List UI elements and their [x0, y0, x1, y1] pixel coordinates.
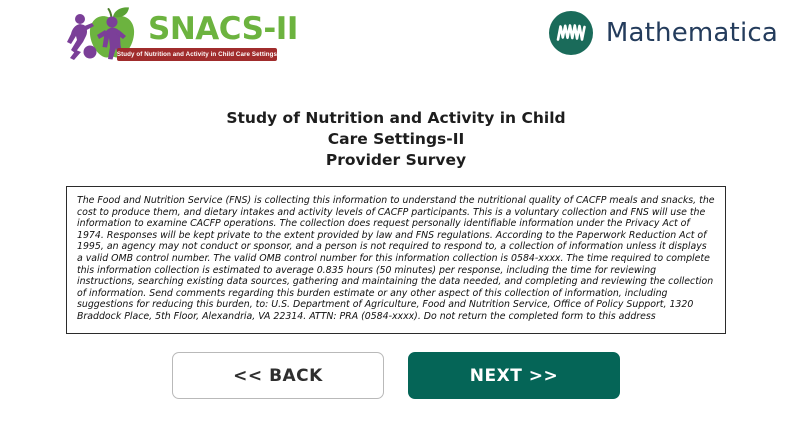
page-title: Study of Nutrition and Activity in Child…	[0, 108, 792, 171]
snacs-wordmark: SNACS-II	[148, 11, 298, 47]
next-button[interactable]: NEXT >>	[408, 352, 620, 399]
page-title-line-1: Study of Nutrition and Activity in Child	[0, 108, 792, 129]
snacs-subtitle-banner: Study of Nutrition and Activity in Child…	[117, 48, 277, 61]
mathematica-mark-icon	[549, 11, 593, 55]
page-header: SNACS-II Study of Nutrition and Activity…	[0, 0, 792, 78]
mathematica-logo: Mathematica	[549, 11, 778, 55]
navigation-buttons: << BACK NEXT >>	[0, 352, 792, 399]
burden-statement-box: The Food and Nutrition Service (FNS) is …	[66, 186, 726, 334]
burden-statement-text: The Food and Nutrition Service (FNS) is …	[77, 195, 715, 323]
snacs-logo: SNACS-II Study of Nutrition and Activity…	[64, 6, 279, 66]
page-title-line-2: Care Settings-II	[0, 129, 792, 150]
mathematica-wordmark: Mathematica	[606, 18, 778, 48]
back-button[interactable]: << BACK	[172, 352, 384, 399]
page-title-line-3: Provider Survey	[0, 150, 792, 171]
